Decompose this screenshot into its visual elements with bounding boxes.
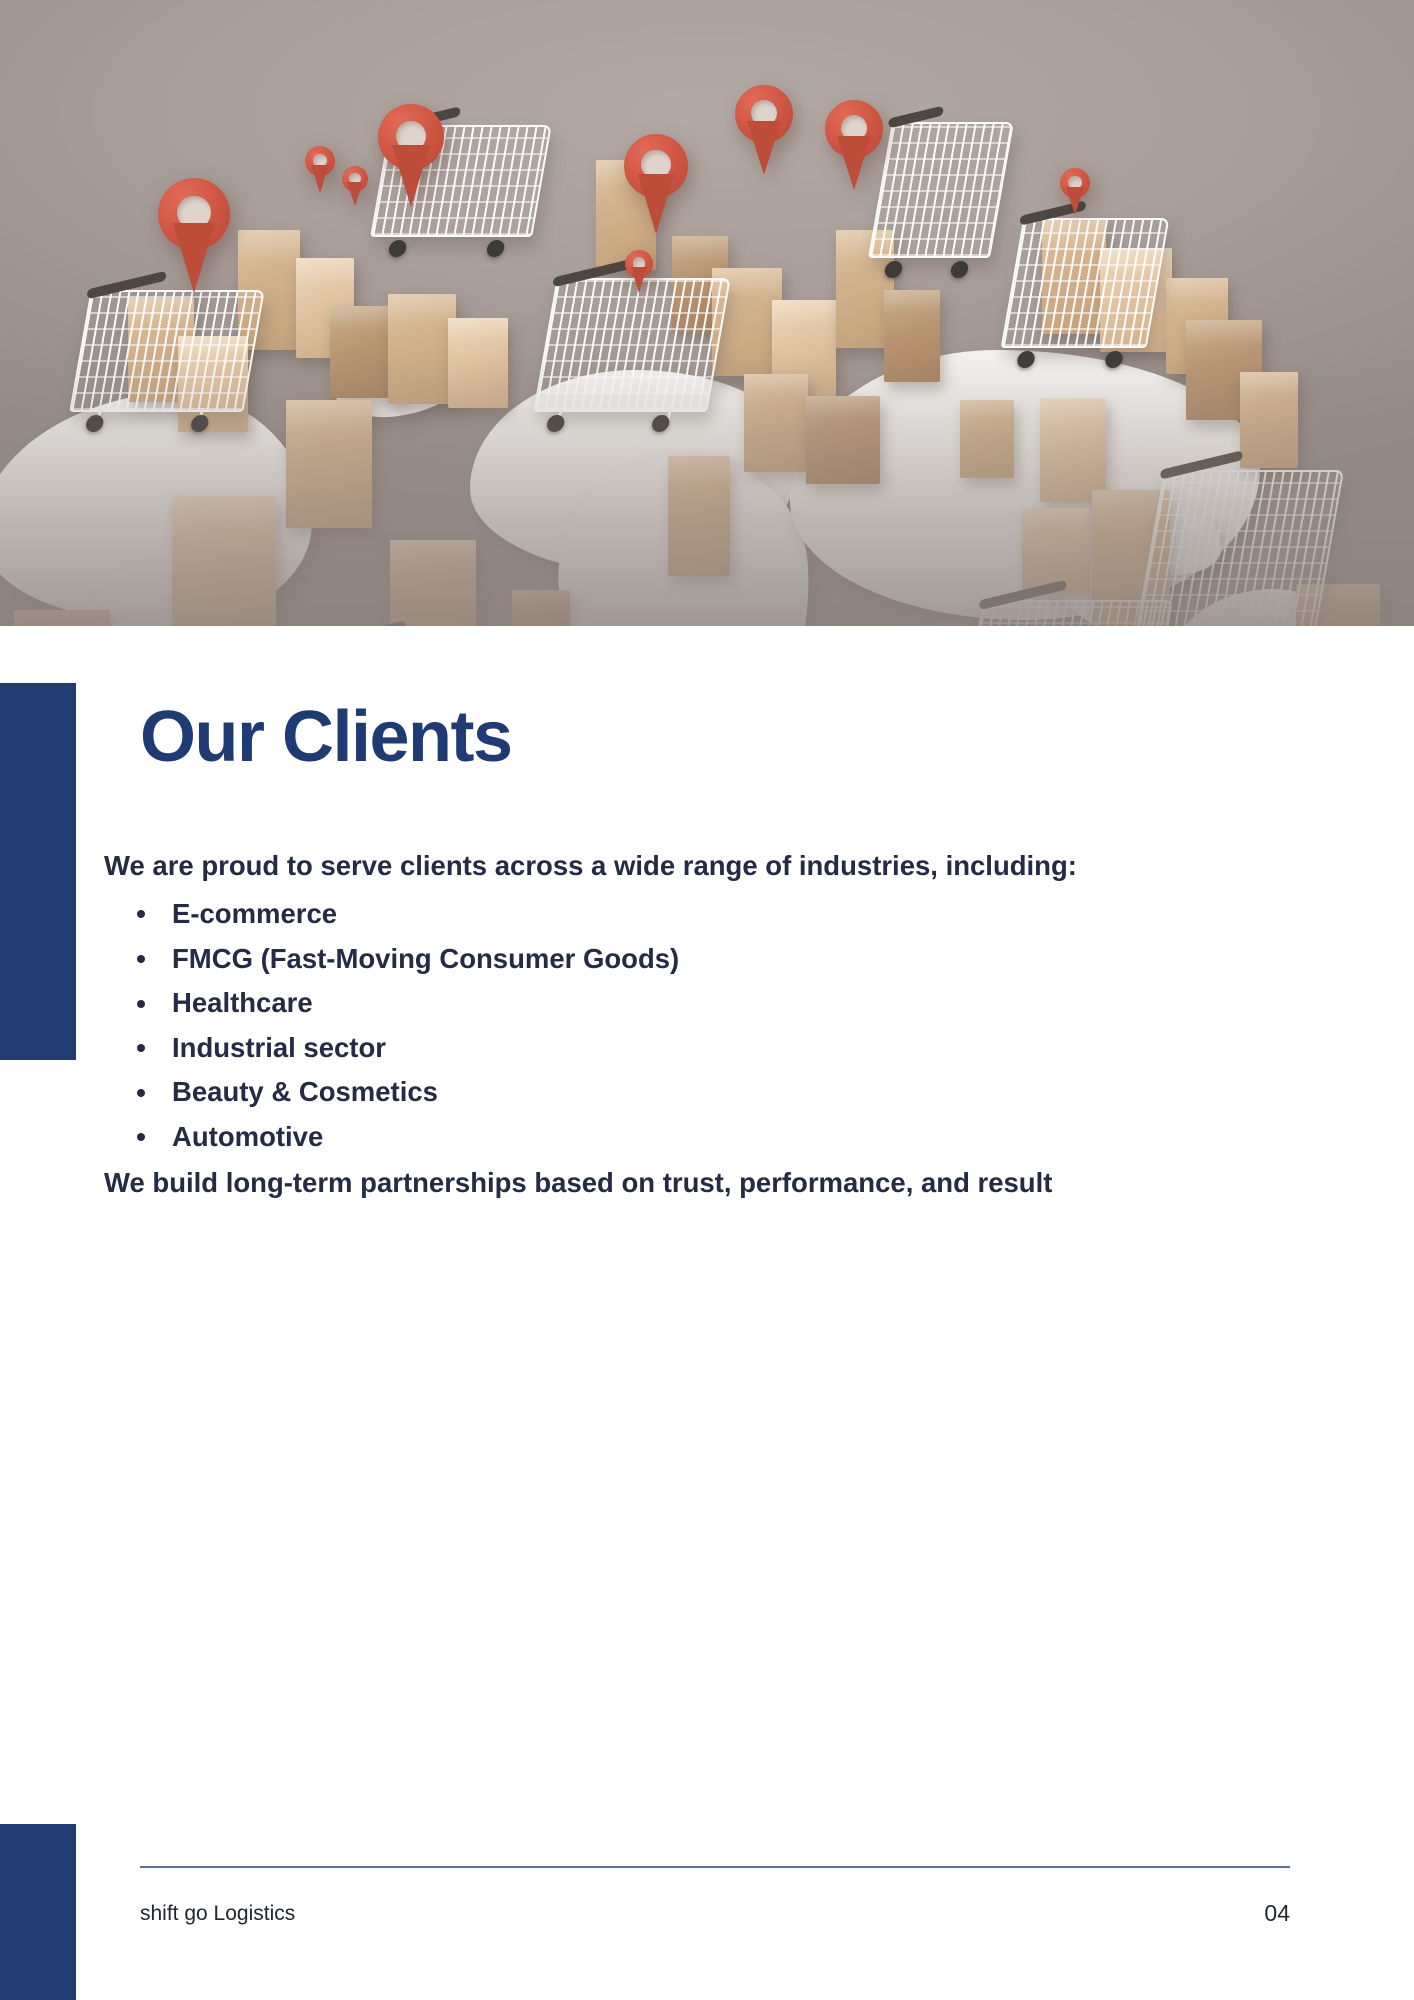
list-item: FMCG (Fast-Moving Consumer Goods) — [104, 937, 1294, 982]
footer-divider — [140, 1866, 1290, 1868]
bullet-dot-icon — [137, 1089, 145, 1097]
bullet-dot-icon — [137, 1000, 145, 1008]
list-item: E-commerce — [104, 892, 1294, 937]
list-item: Automotive — [104, 1115, 1294, 1160]
map-pin-tail — [311, 165, 329, 193]
map-pin-tail — [747, 121, 781, 175]
shopping-cart-icon — [1001, 218, 1170, 348]
accent-bar-bottom — [0, 1824, 76, 2000]
accent-bar-top — [0, 683, 76, 1060]
bullet-dot-icon — [137, 955, 145, 963]
map-pin-icon — [1060, 168, 1090, 198]
map-pin-icon — [158, 178, 230, 250]
map-pin-tail — [631, 267, 647, 293]
map-pin-icon — [342, 166, 368, 192]
list-item: Beauty & Cosmetics — [104, 1070, 1294, 1115]
map-pin-tail — [392, 145, 430, 207]
slide-content: Our Clients We are proud to serve client… — [140, 700, 1300, 1206]
page-title: Our Clients — [140, 700, 1300, 776]
hero-image — [0, 0, 1414, 626]
list-item-label: Healthcare — [172, 987, 313, 1018]
map-pin-icon — [625, 250, 653, 278]
list-item-label: FMCG (Fast-Moving Consumer Goods) — [172, 943, 679, 974]
bullet-dot-icon — [137, 1044, 145, 1052]
list-item-label: Industrial sector — [172, 1032, 386, 1063]
bullet-dot-icon — [137, 910, 145, 918]
closing-paragraph: We build long-term partnerships based on… — [104, 1161, 1294, 1206]
list-item: Healthcare — [104, 981, 1294, 1026]
map-pin-tail — [1066, 187, 1084, 215]
map-pin-icon — [378, 104, 444, 170]
map-pin-icon — [735, 85, 793, 143]
map-pin-tail — [638, 174, 674, 234]
map-pin-icon — [825, 100, 883, 158]
map-pin-tail — [173, 223, 215, 293]
map-pin-icon — [624, 134, 688, 198]
industry-list: E-commerce FMCG (Fast-Moving Consumer Go… — [104, 892, 1294, 1159]
list-item: Industrial sector — [104, 1026, 1294, 1071]
footer: shift go Logistics 04 — [140, 1900, 1290, 1927]
list-item-label: Beauty & Cosmetics — [172, 1076, 438, 1107]
shopping-cart-icon — [868, 122, 1014, 258]
map-pin-icon — [305, 146, 335, 176]
footer-brand: shift go Logistics — [140, 1902, 295, 1926]
list-item-label: Automotive — [172, 1121, 323, 1152]
list-item-label: E-commerce — [172, 898, 337, 929]
body-block: We are proud to serve clients across a w… — [104, 844, 1294, 1206]
map-pin-tail — [347, 182, 363, 206]
hero-floor-shading — [0, 351, 1414, 626]
map-pin-tail — [837, 136, 871, 190]
intro-paragraph: We are proud to serve clients across a w… — [104, 844, 1294, 889]
page-number: 04 — [1264, 1900, 1290, 1927]
bullet-dot-icon — [137, 1133, 145, 1141]
